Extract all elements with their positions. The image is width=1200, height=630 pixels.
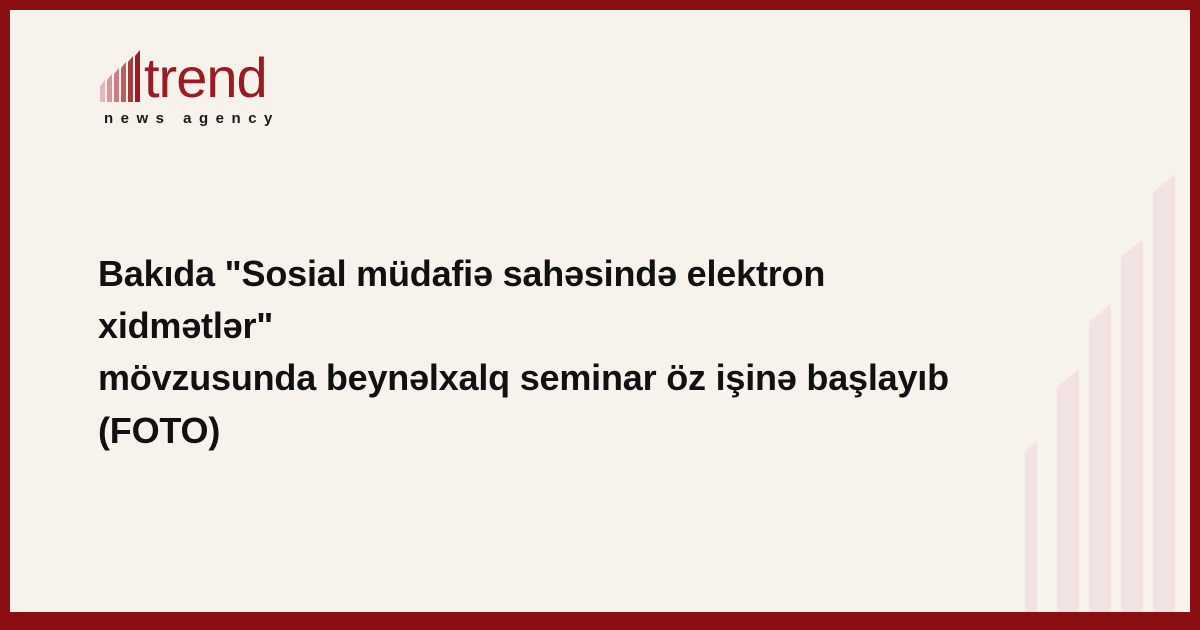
ascending-bars-icon — [98, 50, 142, 102]
deco-bar-5 — [1153, 174, 1175, 612]
deco-bar-1 — [1025, 440, 1037, 612]
headline: Bakıda "Sosial müdafiə sahəsində elektro… — [98, 248, 1003, 457]
ascending-bars-graphic — [1025, 172, 1175, 612]
logo-row: trend — [98, 46, 398, 104]
deco-bar-3 — [1089, 304, 1111, 612]
headline-line-2: mövzusunda beynəlxalq seminar öz işinə b… — [98, 352, 1003, 404]
share-card: trend news agency Bakıda "Sosial müdafiə… — [0, 0, 1200, 630]
site-logo[interactable]: trend news agency — [98, 46, 398, 127]
deco-bar-4 — [1121, 239, 1143, 612]
deco-bar-2 — [1057, 369, 1079, 612]
headline-line-3: (FOTO) — [98, 405, 1003, 457]
card-surface: trend news agency Bakıda "Sosial müdafiə… — [10, 10, 1190, 612]
logo-wordmark: trend — [144, 52, 267, 104]
logo-tagline: news agency — [104, 110, 398, 127]
headline-line-1: Bakıda "Sosial müdafiə sahəsində elektro… — [98, 248, 1003, 352]
